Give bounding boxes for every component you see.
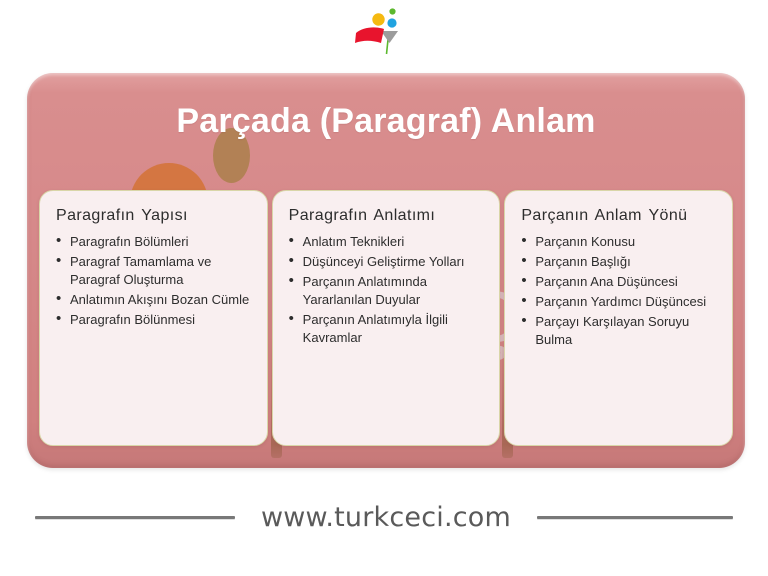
- topic-card-parcanin-anlam-yonu[interactable]: Parçanın Anlam Yönü Parçanın Konusu Parç…: [504, 190, 733, 446]
- list-item: Paragraf Tamamlama ve Paragraf Oluşturma: [54, 253, 253, 289]
- card-row: Paragrafın Yapısı Paragrafın Bölümleri P…: [39, 190, 733, 446]
- list-item: Parçanın Ana Düşüncesi: [519, 273, 718, 291]
- list-item: Düşünceyi Geliştirme Yolları: [287, 253, 486, 271]
- footer: www.turkceci.com: [0, 495, 768, 539]
- card-title: Parçanın Anlam Yönü: [521, 207, 718, 225]
- list-item: Parçanın Konusu: [519, 233, 718, 251]
- list-item: Parçanın Başlığı: [519, 253, 718, 271]
- footer-website-url[interactable]: www.turkceci.com: [261, 502, 511, 533]
- main-panel: Parçada (Paragraf) Anlam türkçe Paragraf…: [27, 73, 745, 468]
- list-item: Parçanın Anlatımıyla İlgili Kavramlar: [287, 311, 486, 347]
- card-title: Paragrafın Yapısı: [56, 207, 253, 225]
- topic-card-paragrafin-anlatimi[interactable]: Paragrafın Anlatımı Anlatım Teknikleri D…: [272, 190, 501, 446]
- card-item-list: Paragrafın Bölümleri Paragraf Tamamlama …: [54, 233, 253, 329]
- card-item-list: Parçanın Konusu Parçanın Başlığı Parçanı…: [519, 233, 718, 349]
- list-item: Parçanın Yardımcı Düşüncesi: [519, 293, 718, 311]
- card-title: Paragrafın Anlatımı: [289, 207, 486, 225]
- list-item: Parçayı Karşılayan Soruyu Bulma: [519, 313, 718, 349]
- footer-rule-left: [35, 516, 235, 519]
- list-item: Anlatımın Akışını Bozan Cümle: [54, 291, 253, 309]
- list-item: Parçanın Anlatımında Yararlanılan Duyula…: [287, 273, 486, 309]
- list-item: Paragrafın Bölümleri: [54, 233, 253, 251]
- page-title: Parçada (Paragraf) Anlam: [27, 101, 745, 141]
- topic-card-paragrafin-yapisi[interactable]: Paragrafın Yapısı Paragrafın Bölümleri P…: [39, 190, 268, 446]
- turkceci-logo-icon: [353, 7, 415, 57]
- logo-container: [0, 4, 768, 60]
- list-item: Paragrafın Bölünmesi: [54, 311, 253, 329]
- list-item: Anlatım Teknikleri: [287, 233, 486, 251]
- card-item-list: Anlatım Teknikleri Düşünceyi Geliştirme …: [287, 233, 486, 347]
- footer-rule-right: [537, 516, 733, 519]
